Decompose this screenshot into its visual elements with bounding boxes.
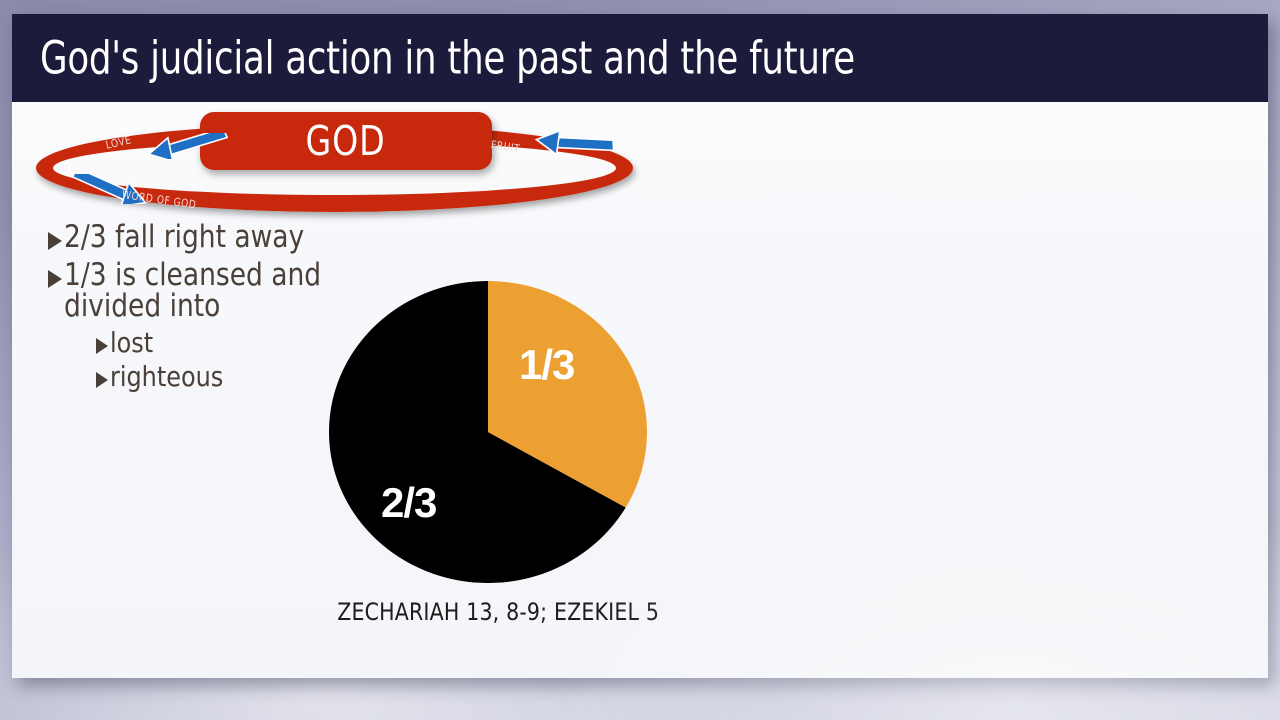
- bullet-text: righteous: [110, 363, 223, 392]
- pie-chart-caption: ZECHARIAH 13, 8-9; EZEKIEL 5: [337, 598, 651, 626]
- page-title: God's judicial action in the past and th…: [40, 32, 855, 85]
- slide-title-bar: God's judicial action in the past and th…: [12, 14, 1268, 102]
- slide-body: GOD: [12, 102, 1268, 678]
- god-cycle-diagram: GOD: [36, 112, 656, 222]
- bullet-triangle-icon: [48, 232, 62, 250]
- list-item: 2/3 fall right away: [48, 222, 378, 254]
- screen-backdrop: God's judicial action in the past and th…: [0, 0, 1280, 720]
- bullet-triangle-icon: [96, 372, 108, 388]
- pie-label-one-third: 1/3: [519, 341, 574, 389]
- pie-chart-svg: [329, 281, 647, 583]
- god-center-box: GOD: [200, 112, 492, 170]
- slide-panel: God's judicial action in the past and th…: [12, 14, 1268, 678]
- bullet-triangle-icon: [96, 338, 108, 354]
- bullet-text: 1/3 is cleansed and divided into: [64, 260, 362, 323]
- god-center-label: GOD: [306, 117, 386, 165]
- bullet-triangle-icon: [48, 270, 62, 288]
- bullet-text: 2/3 fall right away: [64, 222, 304, 254]
- pie-chart: 1/3 2/3: [329, 281, 647, 583]
- pie-label-two-thirds: 2/3: [381, 479, 436, 527]
- bullet-text: lost: [110, 329, 153, 358]
